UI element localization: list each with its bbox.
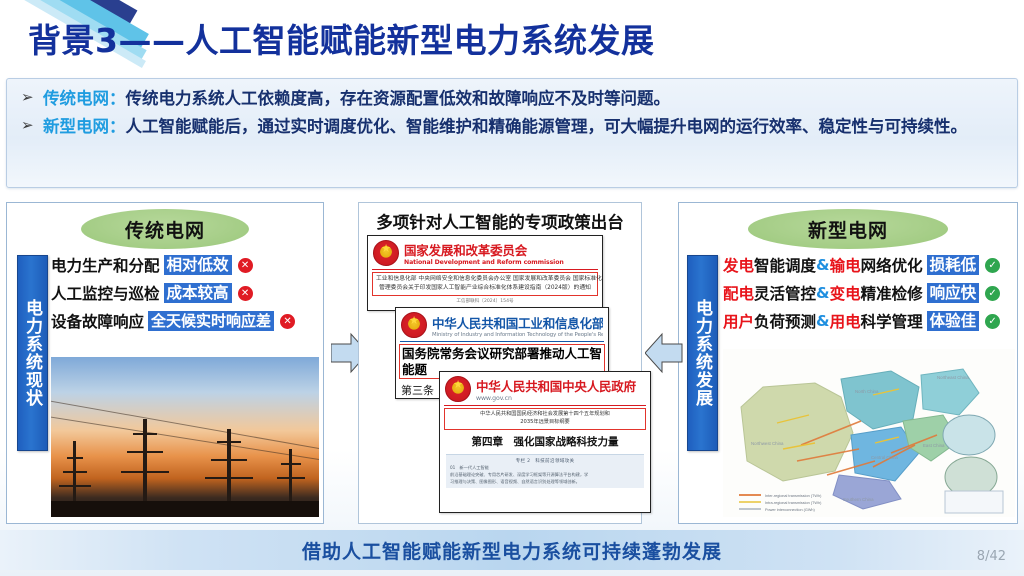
- doc-notice-line1: 工业和信息化部 中央网络安全和信息化委员会办公室 国家发展和改革委员会 国家标准…: [376, 275, 594, 284]
- page-title: 背景3——人工智能赋能新型电力系统发展: [28, 14, 654, 62]
- doc-header: 国家发展和改革委员会 National Development and Refo…: [368, 236, 602, 268]
- doc-org-cn: 国家发展和改革委员会: [404, 240, 564, 259]
- bullet-marker-icon: ➢: [21, 115, 43, 137]
- panel-policy-documents: 多项针对人工智能的专项政策出台 国家发展和改革委员会 National Deve…: [358, 202, 642, 524]
- side-label-current-status: 电力系统现状: [17, 255, 48, 451]
- svg-text:Northeast China: Northeast China: [937, 375, 969, 380]
- list-item: 配电 灵活管控 & 变电 精准检修 响应快 ✓: [723, 279, 1015, 307]
- panel-traditional-grid: 传统电网 电力系统现状 电力生产和分配 相对低效 ✕ 人工监控与巡检 成本较高 …: [6, 202, 324, 524]
- china-power-grid-map: Northwest China North China Northeast Ch…: [723, 349, 1015, 517]
- doc-panel-line: 习推理与决策、图像图形、语音视频、自然语言识别处理等领域创新。: [450, 478, 640, 485]
- line-seg4: 网络优化: [861, 254, 923, 276]
- svg-text:Southern China: Southern China: [843, 497, 874, 502]
- list-item: 设备故障响应 全天候实时响应差 ✕: [51, 307, 319, 335]
- list-item: 人工监控与巡检 成本较高 ✕: [51, 279, 319, 307]
- doc-header: 中华人民共和国工业和信息化部 Ministry of Industry and …: [396, 308, 608, 340]
- policy-doc-gov[interactable]: 中华人民共和国中央人民政府 www.gov.cn 中华人民共和国国民经济和社会发…: [439, 371, 651, 513]
- doc-org-en: National Development and Reform commissi…: [404, 259, 564, 266]
- check-icon: ✓: [985, 286, 1000, 301]
- line-highlight: 响应快: [927, 283, 980, 304]
- doc-divider: [444, 405, 646, 406]
- doc-sidebar-panel: 专栏 2 科技前沿领域攻关 01 新一代人工智能 前沿基础理论突破、专用芯片研发…: [446, 454, 644, 488]
- line-seg2: 负荷预测: [754, 310, 816, 332]
- center-panel-title: 多项针对人工智能的专项政策出台: [359, 209, 641, 233]
- line-highlight: 成本较高: [164, 283, 232, 304]
- check-icon: ✓: [985, 314, 1000, 329]
- list-item: 发电 智能调度 & 输电 网络优化 损耗低 ✓: [723, 251, 1015, 279]
- line-seg1: 用户: [723, 310, 754, 332]
- bullet-label-new: 新型电网：: [43, 117, 126, 136]
- doc-org-cn: 中华人民共和国中央人民政府: [476, 376, 636, 395]
- bullet-row-traditional: ➢ 传统电网：传统电力系统人工依赖度高，存在资源配置低效和故障响应不及时等问题。: [21, 87, 1003, 111]
- doc-notice-box: 工业和信息化部 中央网络安全和信息化委员会办公室 国家发展和改革委员会 国家标准…: [372, 272, 598, 295]
- line-seg3: 输电: [830, 254, 861, 276]
- doc-number: 工信部联科〔2024〕154号: [368, 298, 602, 304]
- check-icon: ✓: [985, 258, 1000, 273]
- line-text: 电力生产和分配: [51, 254, 160, 276]
- panel-heading-label: 新型电网: [808, 216, 888, 243]
- doc-notice-line2: 管理委员会关于印发国家人工智能产业综合标准化体系建设指南（2024版）的通知: [376, 284, 594, 293]
- doc-chapter-title: 第四章 强化国家战略科技力量: [440, 434, 650, 449]
- line-seg1: 配电: [723, 282, 754, 304]
- svg-text:North China: North China: [855, 389, 879, 394]
- panel-heading-traditional: 传统电网: [81, 209, 249, 249]
- arrow-left-icon: [645, 331, 683, 375]
- line-amp: &: [816, 312, 830, 330]
- cross-icon: ✕: [280, 314, 295, 329]
- panels-row: 传统电网 电力系统现状 电力生产和分配 相对低效 ✕ 人工监控与巡检 成本较高 …: [0, 202, 1024, 524]
- line-highlight: 体验佳: [927, 311, 980, 332]
- doc-org-cn: 中华人民共和国工业和信息化部: [432, 313, 603, 332]
- slide-root: 背景3——人工智能赋能新型电力系统发展 ➢ 传统电网：传统电力系统人工依赖度高，…: [0, 0, 1024, 576]
- national-emblem-icon: [445, 376, 471, 402]
- svg-text:Intra-regional transmission (T: Intra-regional transmission (TWh): [765, 501, 822, 505]
- line-highlight: 相对低效: [164, 255, 232, 276]
- line-seg1: 发电: [723, 254, 754, 276]
- bullet-row-new: ➢ 新型电网：人工智能赋能后，通过实时调度优化、智能维护和精确能源管理，可大幅提…: [21, 115, 1003, 139]
- doc-header: 中华人民共和国中央人民政府 www.gov.cn: [440, 372, 650, 404]
- line-amp: &: [816, 284, 830, 302]
- doc-org-url: www.gov.cn: [476, 395, 636, 402]
- cross-icon: ✕: [238, 286, 253, 301]
- footer-banner: 借助人工智能赋能新型电力系统可持续蓬勃发展: [0, 530, 1024, 570]
- line-seg2: 灵活管控: [754, 282, 816, 304]
- svg-text:Power interconnection (GWh): Power interconnection (GWh): [765, 508, 816, 512]
- doc-org-en: Ministry of Industry and Information Tec…: [432, 332, 603, 338]
- line-text: 设备故障响应: [51, 310, 144, 332]
- line-amp: &: [816, 256, 830, 274]
- line-seg4: 精准检修: [861, 282, 923, 304]
- doc-divider: [372, 269, 598, 270]
- svg-text:Northwest China: Northwest China: [751, 441, 784, 446]
- line-highlight: 全天候实时响应差: [148, 311, 274, 331]
- bullet-text-new: 人工智能赋能后，通过实时调度优化、智能维护和精确能源管理，可大幅提升电网的运行效…: [126, 117, 968, 136]
- svg-text:Central China: Central China: [871, 455, 898, 460]
- summary-box: ➢ 传统电网：传统电力系统人工依赖度高，存在资源配置低效和故障响应不及时等问题。…: [6, 78, 1018, 188]
- panel-heading-label: 传统电网: [125, 216, 205, 243]
- page-number: 8/42: [977, 549, 1006, 564]
- line-seg4: 科学管理: [861, 310, 923, 332]
- national-emblem-icon: [401, 312, 427, 338]
- doc-notice-line1: 中华人民共和国国民经济和社会发展第十四个五年规划和: [448, 411, 642, 419]
- panel-heading-new: 新型电网: [748, 209, 948, 249]
- line-seg2: 智能调度: [754, 254, 816, 276]
- list-item: 电力生产和分配 相对低效 ✕: [51, 251, 319, 279]
- line-text: 人工监控与巡检: [51, 282, 160, 304]
- panel-new-grid: 新型电网 电力系统发展 发电 智能调度 & 输电 网络优化 损耗低 ✓: [678, 202, 1018, 524]
- policy-doc-ndrc[interactable]: 国家发展和改革委员会 National Development and Refo…: [367, 235, 603, 311]
- bullet-text-traditional: 传统电力系统人工依赖度高，存在资源配置低效和故障响应不及时等问题。: [126, 89, 671, 108]
- list-item: 用户 负荷预测 & 用电 科学管理 体验佳 ✓: [723, 307, 1015, 335]
- svg-text:East China: East China: [923, 443, 945, 448]
- bullet-label-traditional: 传统电网：: [43, 89, 126, 108]
- traditional-lines: 电力生产和分配 相对低效 ✕ 人工监控与巡检 成本较高 ✕ 设备故障响应 全天候…: [51, 251, 319, 335]
- side-label-development: 电力系统发展: [687, 255, 718, 451]
- doc-panel-line: 前沿基础理论突破、专用芯片研发、深度学习框架等开源算法平台构建，学: [450, 471, 640, 478]
- doc-notice-box: 中华人民共和国国民经济和社会发展第十四个五年规划和 2035年远景目标纲要: [444, 408, 646, 430]
- doc-notice-line2: 2035年远景目标纲要: [448, 419, 642, 427]
- line-highlight: 损耗低: [927, 255, 980, 276]
- svg-text:Inter-regional transmission (T: Inter-regional transmission (TWh): [765, 494, 822, 498]
- cross-icon: ✕: [238, 258, 253, 273]
- bullet-marker-icon: ➢: [21, 87, 43, 109]
- new-grid-lines: 发电 智能调度 & 输电 网络优化 损耗低 ✓ 配电 灵活管控 & 变电 精准检…: [723, 251, 1015, 335]
- national-emblem-icon: [373, 240, 399, 266]
- line-seg3: 变电: [830, 282, 861, 304]
- footer-banner-text: 借助人工智能赋能新型电力系统可持续蓬勃发展: [302, 537, 722, 564]
- doc-panel-line: 01 新一代人工智能: [450, 464, 640, 471]
- power-tower-photo: [51, 357, 319, 517]
- line-seg3: 用电: [830, 310, 861, 332]
- doc-divider: [400, 341, 604, 342]
